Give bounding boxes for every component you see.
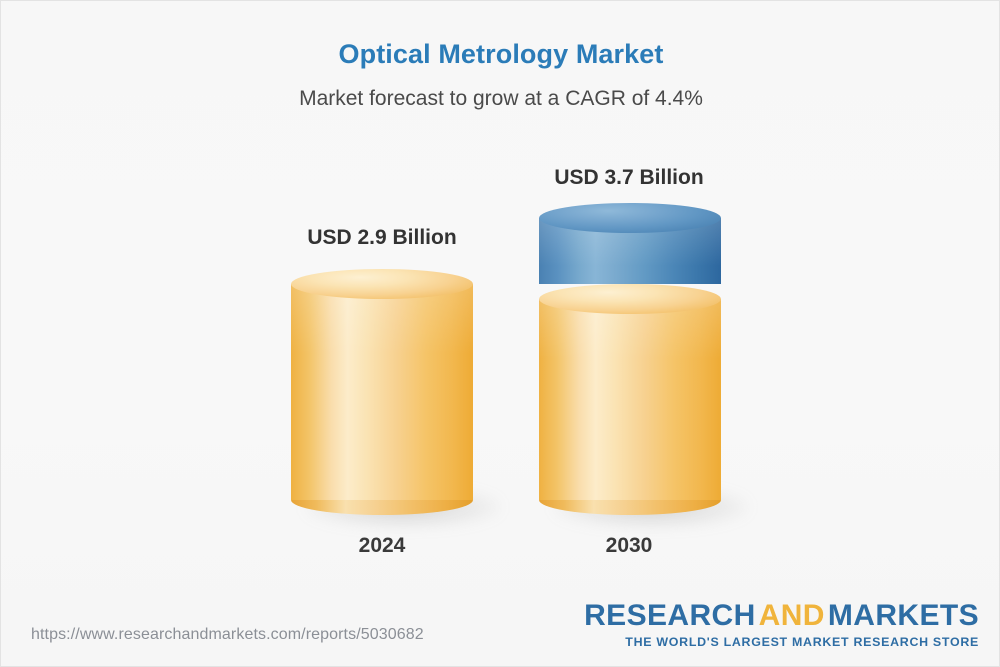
logo-word-and: AND xyxy=(756,599,828,632)
cylinder-2024 xyxy=(291,269,473,513)
cylinder-2030 xyxy=(539,203,721,513)
data-label-2030: USD 3.7 Billion xyxy=(469,166,789,190)
chart-footer: https://www.researchandmarkets.com/repor… xyxy=(1,586,1000,666)
logo-word-research: RESEARCH xyxy=(584,599,756,632)
cylinder-top-cap xyxy=(539,203,721,233)
logo-tagline: THE WORLD'S LARGEST MARKET RESEARCH STOR… xyxy=(584,632,979,650)
cylinder-top-cap xyxy=(291,269,473,299)
plot-area: USD 2.9 Billion 2024 USD 3.7 Billion xyxy=(1,1,1000,601)
bar-group-2030: USD 3.7 Billion 2030 xyxy=(469,1,789,601)
logo-wordmark: RESEARCHANDMARKETS xyxy=(584,600,979,632)
cylinder-segment-growth xyxy=(539,203,721,299)
cylinder-wall xyxy=(291,284,473,500)
research-and-markets-logo[interactable]: RESEARCHANDMARKETS THE WORLD'S LARGEST M… xyxy=(584,600,979,650)
report-url-link[interactable]: https://www.researchandmarkets.com/repor… xyxy=(31,626,424,644)
cylinder-segment-base xyxy=(291,269,473,513)
logo-word-markets: MARKETS xyxy=(828,599,979,632)
category-label-2030: 2030 xyxy=(469,534,789,558)
cylinder-wall xyxy=(539,299,721,500)
chart-canvas: Optical Metrology Market Market forecast… xyxy=(0,0,1000,667)
cylinder-segment-base xyxy=(539,284,721,513)
